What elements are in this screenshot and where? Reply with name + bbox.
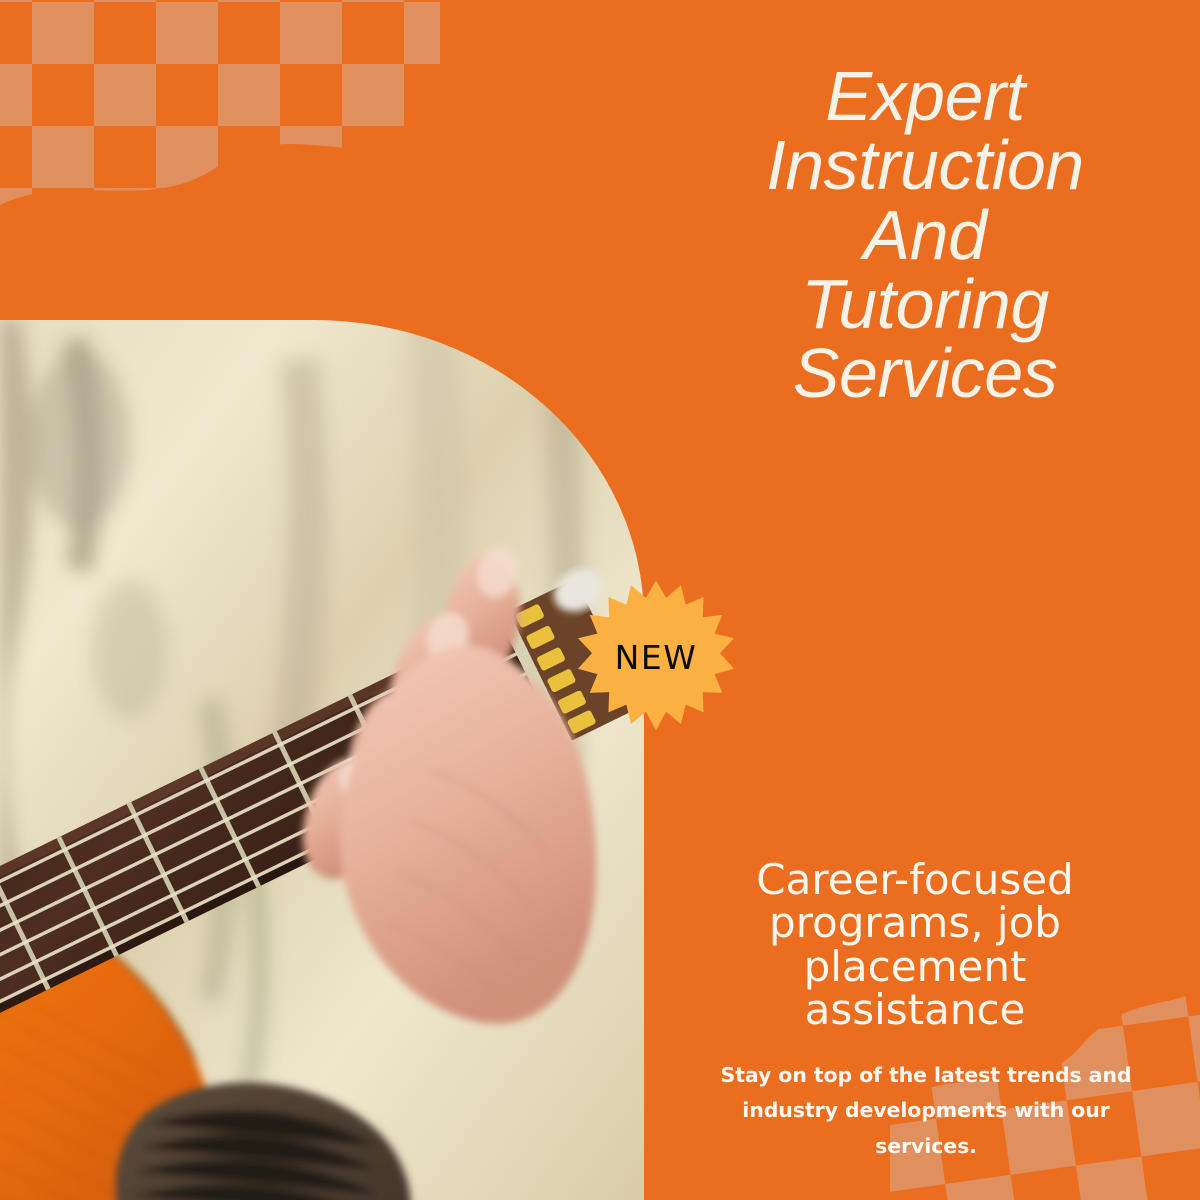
headline-line-4: Tutoring	[660, 270, 1190, 339]
subheadline: Career-focused programs, job placement a…	[700, 858, 1130, 1031]
promo-poster: NEW Expert Instruction And Tutoring Serv…	[0, 0, 1200, 1200]
headline-line-1: Expert	[660, 62, 1190, 131]
new-badge-label: NEW	[578, 578, 734, 736]
subheadline-line-4: assistance	[700, 988, 1130, 1031]
checkered-flag-pattern-top-left	[0, 0, 440, 250]
new-badge[interactable]: NEW	[578, 578, 734, 736]
guitar-photo	[0, 320, 644, 1200]
headline-line-3: And	[660, 201, 1190, 270]
body-copy-line-1: Stay on top of the latest trends and	[700, 1058, 1152, 1093]
guitar-photo-panel	[0, 320, 644, 1200]
body-copy: Stay on top of the latest trends and ind…	[700, 1058, 1152, 1164]
headline-line-5: Services	[660, 339, 1190, 408]
body-copy-line-2: industry developments with our services.	[700, 1093, 1152, 1164]
headline-line-2: Instruction	[660, 131, 1190, 200]
page-title: Expert Instruction And Tutoring Services	[660, 62, 1190, 408]
subheadline-line-1: Career-focused	[700, 858, 1130, 901]
subheadline-line-2: programs, job	[700, 901, 1130, 944]
subheadline-line-3: placement	[700, 945, 1130, 988]
